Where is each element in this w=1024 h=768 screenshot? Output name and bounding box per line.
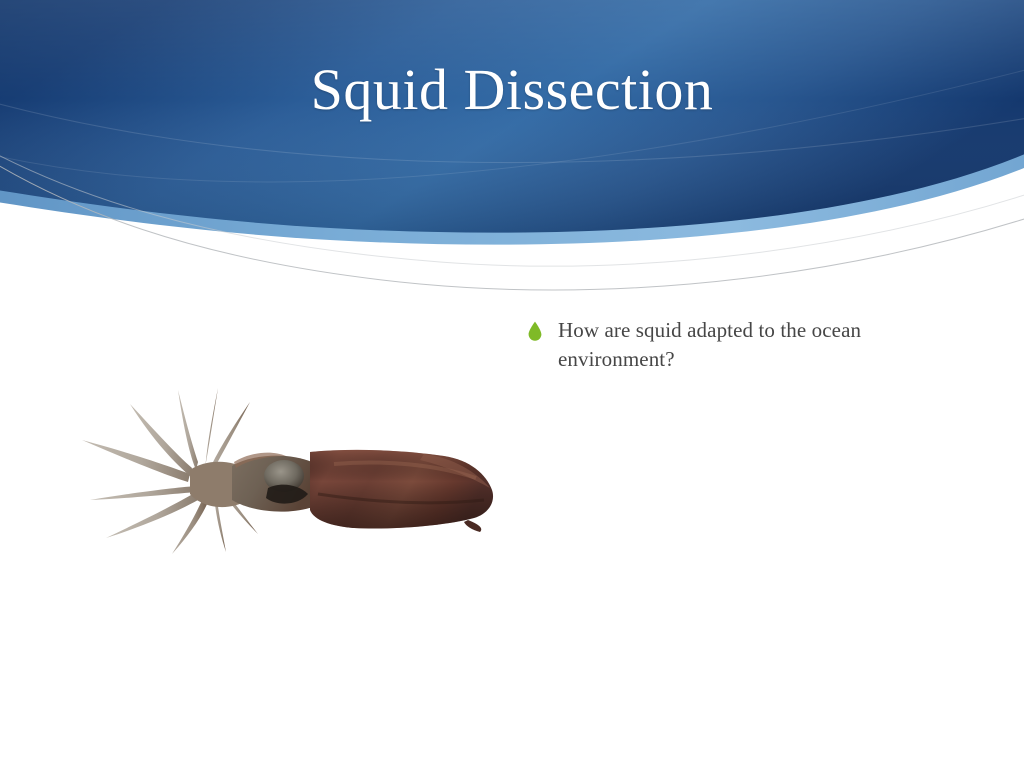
squid-arms	[82, 388, 258, 554]
list-item-label: How are squid adapted to the ocean envir…	[558, 316, 948, 374]
header-light-wave	[0, 0, 1024, 245]
accent-hairline-inner	[0, 140, 1024, 266]
page-title: Squid Dissection	[0, 58, 1024, 122]
squid-head	[232, 453, 316, 512]
squid-tail-notch	[464, 520, 481, 532]
accent-hairline-outer	[0, 148, 1024, 290]
squid-mantle	[310, 450, 493, 532]
squid-specimen-photo	[72, 382, 502, 557]
list-item: How are squid adapted to the ocean envir…	[528, 316, 948, 374]
presentation-slide: Squid Dissection How are squid adapted t…	[0, 0, 1024, 768]
droplet-bullet-icon	[528, 321, 542, 341]
header-wave-band	[0, 0, 1024, 300]
content-placeholder: How are squid adapted to the ocean envir…	[528, 316, 948, 374]
